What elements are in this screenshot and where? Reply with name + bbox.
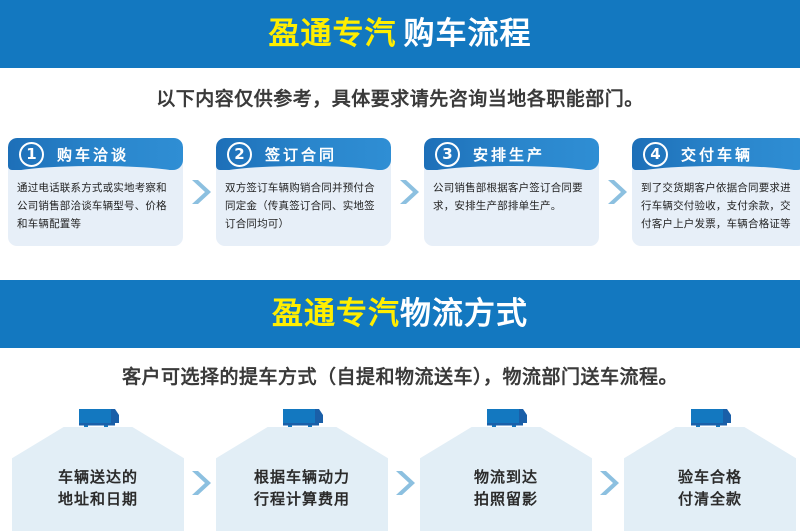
logistics-card-text-4: 验车合格 付清全款: [678, 466, 742, 511]
step-body-1: 通过电话联系方式或实地考察和公司销售部洽谈车辆型号、价格和车辆配置等: [8, 170, 183, 233]
step-title-3: 安排生产: [473, 144, 545, 165]
logistics-card-text-2: 根据车辆动力 行程计算费用: [254, 466, 350, 511]
logistics-subtitle: 客户可选择的提车方式（自提和物流送车），物流部门送车流程。: [0, 362, 800, 389]
step-title-1: 购车洽谈: [57, 144, 129, 165]
step-title-4: 交付车辆: [681, 144, 753, 165]
logistics-card-3[interactable]: 物流到达 拍照留影: [420, 405, 592, 531]
brand-name-text: 盈通专汽: [272, 296, 400, 332]
step-body-4: 到了交货期客户依据合同要求进行车辆交付验收，支付余款，交付客户上户发票，车辆合格…: [632, 170, 800, 233]
purchase-subtitle: 以下内容仅供参考，具体要求请先咨询当地各职能部门。: [0, 84, 800, 111]
banner-subject-text: 物流方式: [400, 296, 528, 332]
logistics-line-2: 地址和日期: [58, 488, 138, 511]
pentagon-shape: 验车合格 付清全款: [624, 427, 796, 531]
logistics-line-1: 根据车辆动力: [254, 466, 350, 489]
step-card-2[interactable]: 2 签订合同 双方签订车辆购销合同并预付合同定金（传真签订合同、实地签订合同均可…: [216, 138, 391, 246]
step-header-1: 1 购车洽谈: [8, 138, 183, 170]
step-header-4: 4 交付车辆: [632, 138, 800, 170]
step-number-badge-4: 4: [643, 142, 668, 167]
step-title-2: 签订合同: [265, 144, 337, 165]
pentagon-shape: 根据车辆动力 行程计算费用: [216, 427, 388, 531]
pentagon-shape: 车辆送达的 地址和日期: [12, 427, 184, 531]
chevron-right-icon: [592, 405, 624, 531]
logistics-steps-row: 车辆送达的 地址和日期 根据车辆动力 行程计算费用: [0, 405, 800, 531]
step-body-2: 双方签订车辆购销合同并预付合同定金（传真签订合同、实地签订合同均可）: [216, 170, 391, 233]
chevron-right-icon: [391, 138, 424, 246]
logistics-card-2[interactable]: 根据车辆动力 行程计算费用: [216, 405, 388, 531]
banner-title-purchase: 盈通专汽购车流程: [269, 19, 532, 50]
step-number-badge-2: 2: [227, 142, 252, 167]
pentagon-shape: 物流到达 拍照留影: [420, 427, 592, 531]
step-header-3: 3 安排生产: [424, 138, 599, 170]
chevron-right-icon: [184, 405, 216, 531]
logistics-card-4[interactable]: 验车合格 付清全款: [624, 405, 796, 531]
chevron-right-icon: [388, 405, 420, 531]
step-number-badge-3: 3: [435, 142, 460, 167]
logistics-card-text-1: 车辆送达的 地址和日期: [58, 466, 138, 511]
logistics-banner: 盈通专汽物流方式: [0, 280, 800, 348]
step-body-3: 公司销售部根据客户签订合同要求，安排生产部排单生产。: [424, 170, 599, 215]
step-card-4[interactable]: 4 交付车辆 到了交货期客户依据合同要求进行车辆交付验收，支付余款，交付客户上户…: [632, 138, 800, 246]
chevron-right-icon: [599, 138, 632, 246]
logistics-card-text-3: 物流到达 拍照留影: [474, 466, 538, 511]
logistics-card-1[interactable]: 车辆送达的 地址和日期: [12, 405, 184, 531]
chevron-right-icon: [183, 138, 216, 246]
step-card-3[interactable]: 3 安排生产 公司销售部根据客户签订合同要求，安排生产部排单生产。: [424, 138, 599, 246]
purchase-process-banner: 盈通专汽购车流程: [0, 0, 800, 68]
banner-title-logistics: 盈通专汽物流方式: [272, 299, 528, 330]
step-card-1[interactable]: 1 购车洽谈 通过电话联系方式或实地考察和公司销售部洽谈车辆型号、价格和车辆配置…: [8, 138, 183, 246]
step-header-2: 2 签订合同: [216, 138, 391, 170]
logistics-line-2: 付清全款: [678, 488, 742, 511]
logistics-line-1: 验车合格: [678, 466, 742, 489]
logistics-line-2: 行程计算费用: [254, 488, 350, 511]
infographic-page: 盈通专汽购车流程 以下内容仅供参考，具体要求请先咨询当地各职能部门。 1 购车洽…: [0, 0, 800, 531]
logistics-line-1: 车辆送达的: [58, 466, 138, 489]
brand-name-text: 盈通专汽: [269, 16, 397, 52]
step-number-badge-1: 1: [19, 142, 44, 167]
banner-subject-text: 购车流程: [404, 16, 532, 52]
logistics-line-2: 拍照留影: [474, 488, 538, 511]
logistics-line-1: 物流到达: [474, 466, 538, 489]
purchase-steps-row: 1 购车洽谈 通过电话联系方式或实地考察和公司销售部洽谈车辆型号、价格和车辆配置…: [0, 138, 800, 256]
